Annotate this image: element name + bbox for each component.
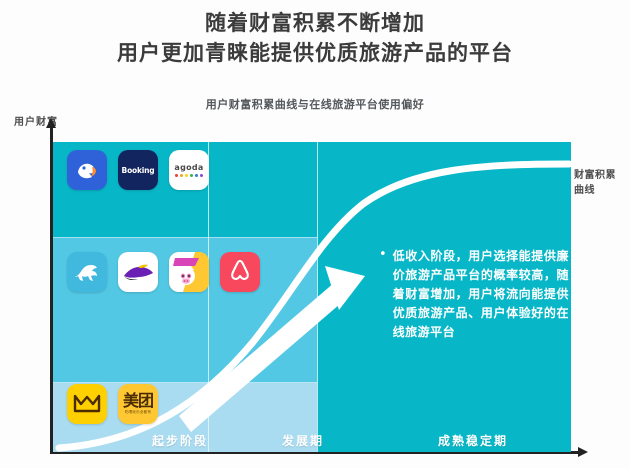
annotation-text: 低收入阶段，用户选择能提供廉价旅游产品平台的概率较高，随着财富增加，用户将流向能…	[393, 247, 569, 342]
chart-plot-area: Booking agoda	[53, 142, 571, 452]
annotation-block: • 低收入阶段，用户选择能提供廉价旅游产品平台的概率较高，随着财富增加，用户将流…	[379, 247, 569, 342]
page-title: 随着财富积累不断增加 用户更加青睐能提供优质旅游产品的平台	[0, 8, 630, 68]
meituan-m-logo-icon[interactable]	[67, 384, 107, 424]
logo-row-high-tier: Booking agoda	[67, 150, 209, 190]
phase-label-mature: 成熟稳定期	[383, 432, 563, 449]
logo-row-mid-tier	[67, 252, 260, 292]
phase-label-growth: 发展期	[253, 432, 353, 449]
agoda-logo-icon[interactable]: agoda	[169, 150, 209, 190]
curve-caption: 财富积累曲线	[574, 168, 626, 198]
meituan-logo-subtext: 吃喝玩乐全都有	[125, 411, 152, 415]
agoda-dots-icon	[175, 174, 204, 178]
airbnb-logo-icon[interactable]	[220, 252, 260, 292]
logo-row-low-tier: 美团 吃喝玩乐全都有	[67, 384, 158, 424]
meituan-logo-text: 美团	[123, 393, 153, 409]
meituan-logo-icon[interactable]: 美团 吃喝玩乐全都有	[118, 384, 158, 424]
annotation-bullet-icon: •	[379, 247, 387, 262]
booking-logo-text: Booking	[122, 166, 155, 175]
qunar-logo-icon[interactable]	[67, 252, 107, 292]
x-axis-arrow-icon	[578, 447, 588, 457]
ctrip-logo-icon[interactable]	[67, 150, 107, 190]
title-line-2: 用户更加青睐能提供优质旅游产品的平台	[0, 38, 630, 68]
phase-label-startup: 起步阶段	[125, 432, 235, 449]
fliggy-logo-icon[interactable]	[169, 252, 209, 292]
agoda-logo-text: agoda	[174, 163, 203, 172]
booking-logo-icon[interactable]: Booking	[118, 150, 158, 190]
tongcheng-whale-logo-icon[interactable]	[118, 252, 158, 292]
slide-root: 随着财富积累不断增加 用户更加青睐能提供优质旅游产品的平台 用户财富积累曲线与在…	[0, 0, 630, 468]
title-line-1: 随着财富积累不断增加	[0, 8, 630, 38]
chart-subtitle: 用户财富积累曲线与在线旅游平台使用偏好	[0, 96, 630, 112]
